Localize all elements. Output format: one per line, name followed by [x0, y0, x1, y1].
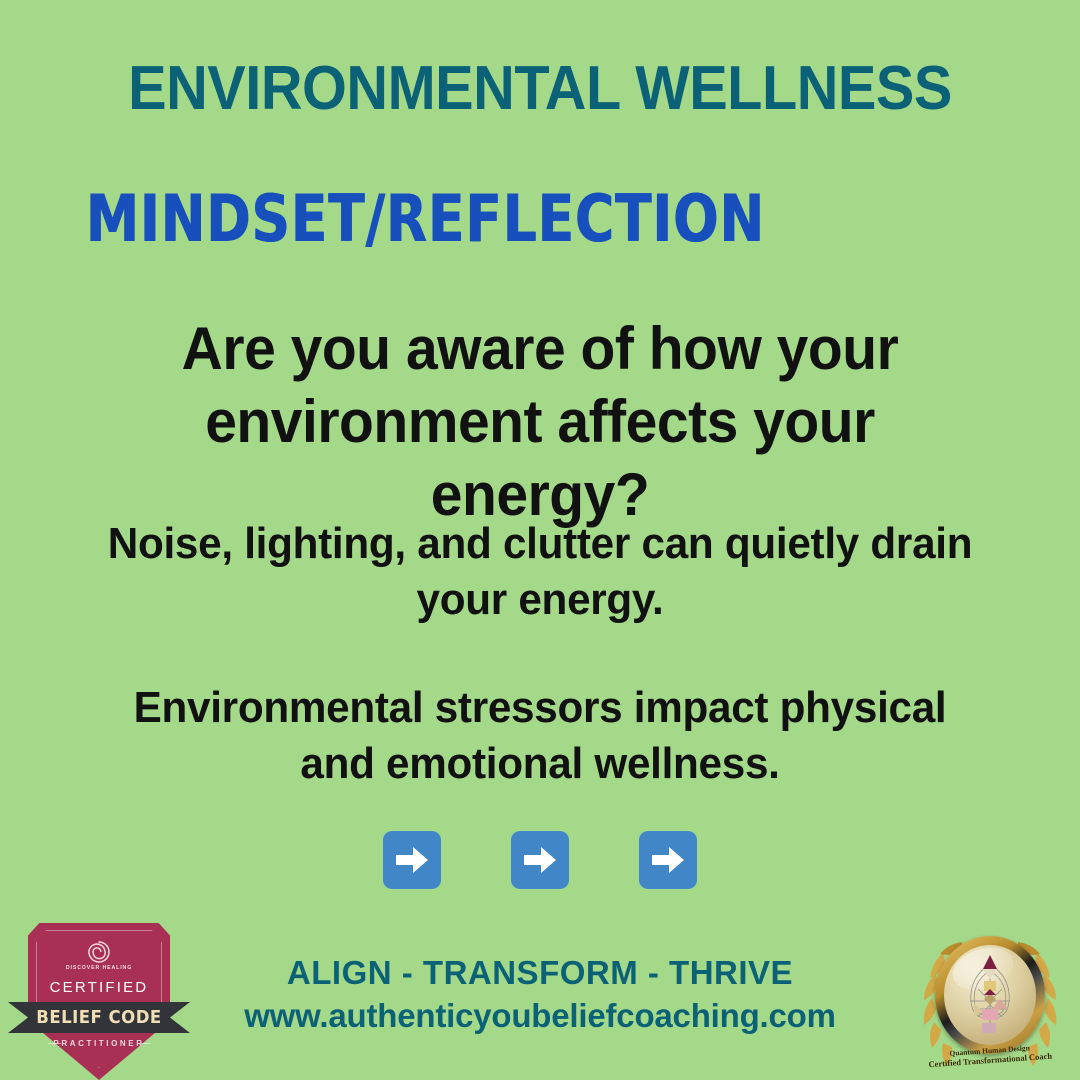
arrow-indicator-row	[0, 831, 1080, 889]
badge-ribbon: Quantum Human Design Certified Transform…	[920, 1040, 1060, 1074]
badge-practitioner-label: PRACTITIONER	[28, 1039, 170, 1048]
badge-brand-name: DISCOVER HEALING	[28, 965, 170, 971]
footer-website-url[interactable]: www.authenticyoubeliefcoaching.com	[190, 995, 890, 1036]
right-arrow-icon[interactable]	[383, 831, 441, 889]
badge-ribbon-label: BELIEF CODE	[15, 1002, 182, 1033]
page-title: ENVIRONMENTAL WELLNESS	[38, 58, 1042, 120]
category-subtitle: MINDSET/REFLECTION	[86, 186, 765, 251]
poster-canvas: ENVIRONMENTAL WELLNESS MINDSET/REFLECTIO…	[0, 0, 1080, 1080]
belief-code-badge: DISCOVER HEALING CERTIFIED BELIEF CODE P…	[28, 923, 170, 1080]
bodygraph-figure-icon	[944, 945, 1036, 1045]
right-arrow-icon[interactable]	[639, 831, 697, 889]
quantum-human-design-badge: Quantum Human Design Certified Transform…	[918, 930, 1062, 1076]
body-paragraph-2: Environmental stressors impact physical …	[98, 680, 981, 792]
badge-certified-label: CERTIFIED	[28, 979, 170, 996]
main-question: Are you aware of how your environment af…	[94, 312, 987, 532]
right-arrow-icon[interactable]	[511, 831, 569, 889]
footer-block: ALIGN - TRANSFORM - THRIVE www.authentic…	[190, 952, 890, 1037]
body-paragraph-1: Noise, lighting, and clutter can quietly…	[98, 516, 981, 628]
badge-inner-disc	[944, 945, 1036, 1045]
footer-tagline: ALIGN - TRANSFORM - THRIVE	[190, 952, 890, 993]
